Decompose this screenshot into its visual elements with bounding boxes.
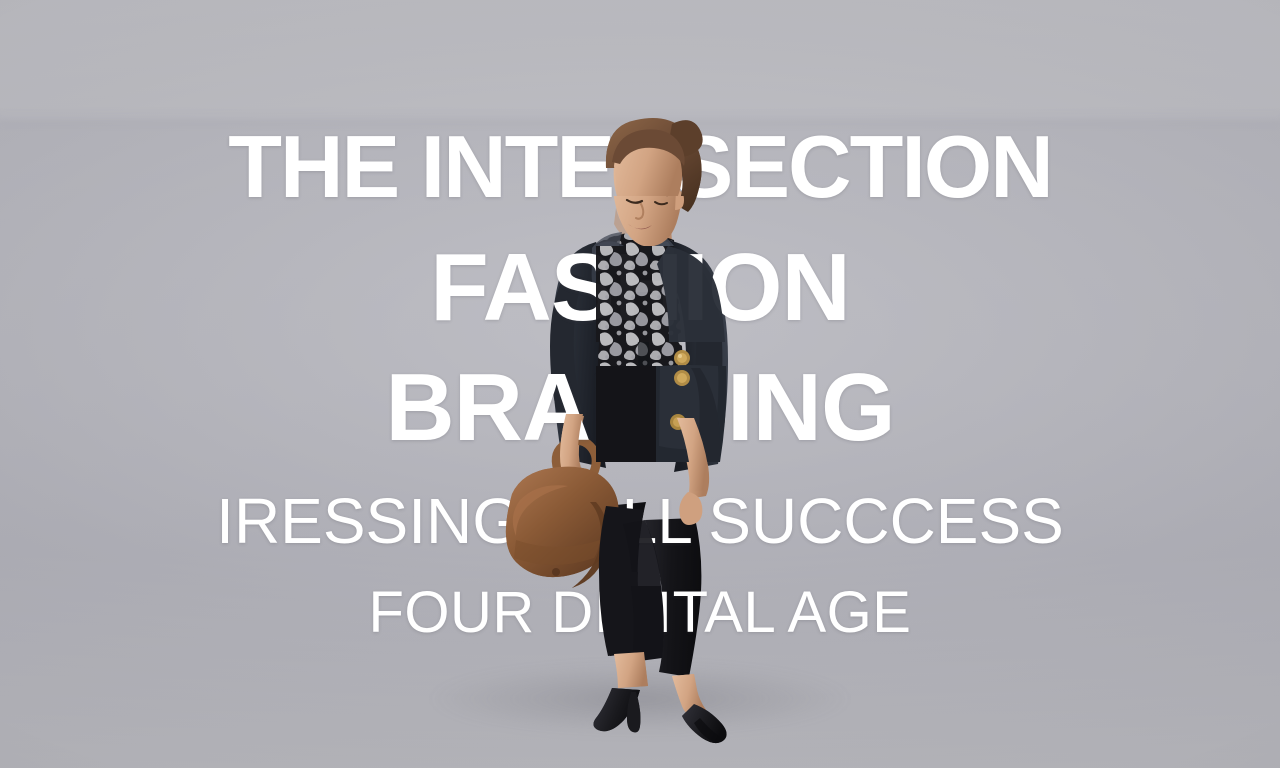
model-figure <box>0 0 1280 768</box>
model-back-shoe <box>682 704 727 743</box>
model-front-shoe <box>593 688 640 732</box>
model-back-leg <box>645 518 706 716</box>
model-head <box>606 118 703 249</box>
model-front-leg <box>600 502 648 688</box>
title-card-canvas: THE INTERSECTION FASHION BRANUING IRESSI… <box>0 0 1280 768</box>
